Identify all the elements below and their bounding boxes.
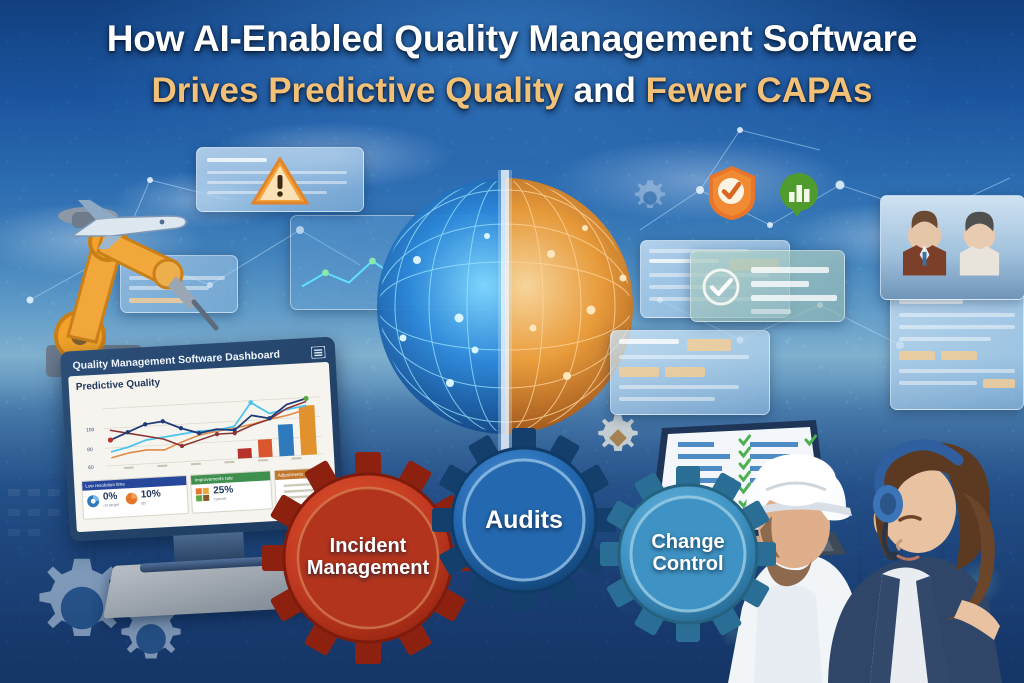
shield-check-icon xyxy=(706,164,758,222)
hero-banner: How AI-Enabled Quality Management Softwa… xyxy=(0,0,1024,683)
records-table-card[interactable] xyxy=(890,290,1024,410)
alert-notification-card[interactable] xyxy=(196,147,364,212)
stacked-blocks-icon xyxy=(195,487,211,503)
support-agent xyxy=(812,400,1012,683)
check-circle-icon xyxy=(701,267,741,307)
title-accent-predictive: Drives Predictive Quality xyxy=(151,71,563,110)
title-line-2: Drives Predictive Quality and Fewer CAPA… xyxy=(0,71,1024,111)
title-line-1: How AI-Enabled Quality Management Softwa… xyxy=(0,18,1024,60)
kpi-card[interactable]: Low resolution time 0% on target xyxy=(81,475,189,520)
donut-chart-icon xyxy=(86,493,101,508)
kpi-body: 0% on target 10% qtr xyxy=(83,485,188,512)
kpi-sub: on target xyxy=(103,502,119,508)
gear-icon xyxy=(600,466,776,642)
kpi-card[interactable]: Improvements rate 25% current xyxy=(190,470,272,513)
svg-text:80: 80 xyxy=(87,447,93,453)
kpi-value: 25% xyxy=(213,485,234,496)
monitor-stand xyxy=(173,532,244,562)
video-call-panel[interactable] xyxy=(880,195,1024,300)
warning-triangle-icon xyxy=(251,156,309,206)
gear-audits[interactable]: Audits xyxy=(432,428,616,612)
svg-text:60: 60 xyxy=(88,465,94,471)
kpi-sub: current xyxy=(214,495,234,501)
data-panel-lower xyxy=(610,330,770,415)
approval-checklist-card[interactable] xyxy=(690,250,845,322)
kpi-value: 10% xyxy=(140,489,161,500)
gear-icon xyxy=(432,428,616,612)
list-menu-icon[interactable] xyxy=(311,346,326,359)
airplane-icon xyxy=(62,196,192,256)
split-ai-brain-icon xyxy=(355,168,655,458)
title-accent-capas: Fewer CAPAs xyxy=(646,71,873,110)
video-call-participants xyxy=(881,196,1024,299)
kpi-sub: qtr xyxy=(141,499,161,505)
title-conjunction: and xyxy=(574,71,636,110)
pie-chart-icon xyxy=(125,492,139,506)
kpi-body: 25% current xyxy=(192,480,271,505)
bar-chart-bubble-icon xyxy=(778,172,820,218)
gear-change-control[interactable]: Change Control xyxy=(600,466,776,642)
svg-text:100: 100 xyxy=(86,427,95,433)
hero-title: How AI-Enabled Quality Management Softwa… xyxy=(0,18,1024,111)
